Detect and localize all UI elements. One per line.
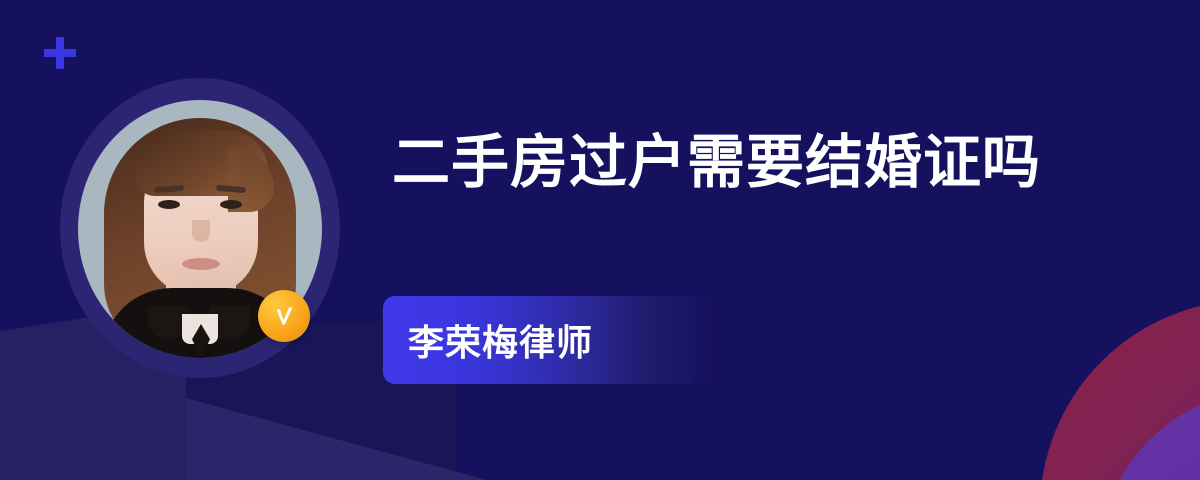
circle-gradient-crimson <box>1040 300 1200 480</box>
lawyer-name-label: 李荣梅律师 <box>383 314 593 366</box>
page-title: 二手房过户需要结婚证吗 <box>392 128 1041 198</box>
portrait-eye-left <box>158 200 180 209</box>
portrait-nose <box>192 220 210 242</box>
verified-check-icon <box>258 290 310 342</box>
triangle-shape-right <box>186 398 516 480</box>
lawyer-article-banner: 二手房过户需要结婚证吗 李荣梅律师 <box>0 0 1200 480</box>
lawyer-name-badge[interactable]: 李荣梅律师 <box>383 296 713 384</box>
avatar <box>60 78 340 378</box>
circle-gradient-violet <box>1100 390 1200 480</box>
plus-icon <box>42 35 78 71</box>
portrait-eye-right <box>220 200 242 209</box>
portrait-mouth <box>182 258 220 270</box>
